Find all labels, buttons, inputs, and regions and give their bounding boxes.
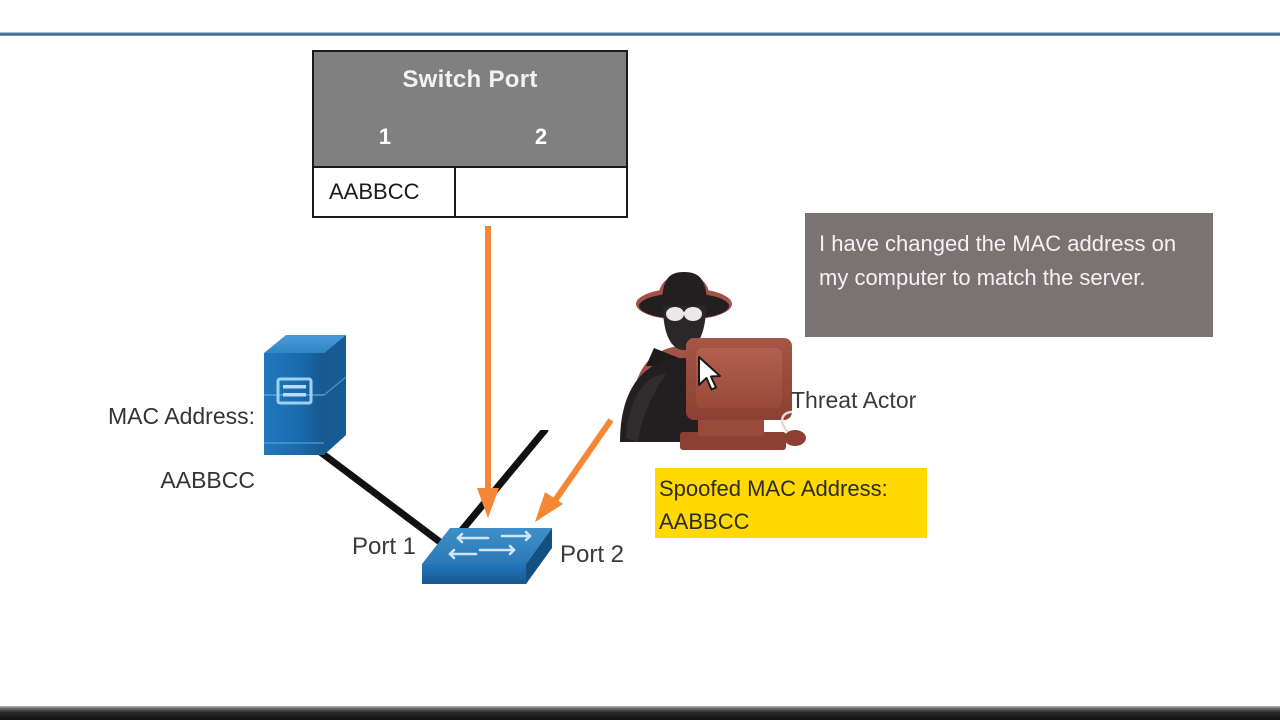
mac-table-cell-port2 [456, 168, 626, 216]
attacker-speech-bubble-text: I have changed the MAC address on my com… [819, 227, 1197, 295]
table-row: AABBCC [314, 166, 626, 216]
top-border-rule [0, 32, 1280, 36]
attacker-speech-bubble: I have changed the MAC address on my com… [805, 213, 1213, 337]
spoofed-mac-callout: Spoofed MAC Address: AABBCC [655, 468, 927, 538]
mac-address-table: Switch Port 1 2 AABBCC [312, 50, 628, 218]
mac-table-cell-port1: AABBCC [314, 168, 456, 216]
switch-port1-label: Port 1 [352, 533, 416, 561]
threat-actor-label: Threat Actor [791, 387, 916, 414]
mac-table-column-header-2: 2 [506, 124, 576, 150]
mac-table-header: Switch Port 1 2 [314, 52, 626, 166]
server-icon [258, 333, 350, 463]
mac-table-title: Switch Port [314, 66, 626, 94]
server-mac-label: MAC Address: AABBCC [60, 368, 255, 528]
table-to-switch-arrow [470, 222, 510, 522]
attacker-to-switch-arrow [525, 412, 625, 530]
server-mac-label-line2: AABBCC [160, 467, 255, 493]
mouse-pointer [697, 355, 723, 393]
switch-icon [414, 522, 564, 600]
bottom-border-rule [0, 706, 1280, 720]
spoofed-mac-callout-text: Spoofed MAC Address: AABBCC [659, 472, 927, 538]
diagram-canvas: Switch Port 1 2 AABBCC [0, 0, 1280, 720]
switch-port2-label: Port 2 [560, 541, 624, 569]
server-mac-label-line1: MAC Address: [108, 403, 255, 429]
mac-table-column-header-1: 1 [350, 124, 420, 150]
